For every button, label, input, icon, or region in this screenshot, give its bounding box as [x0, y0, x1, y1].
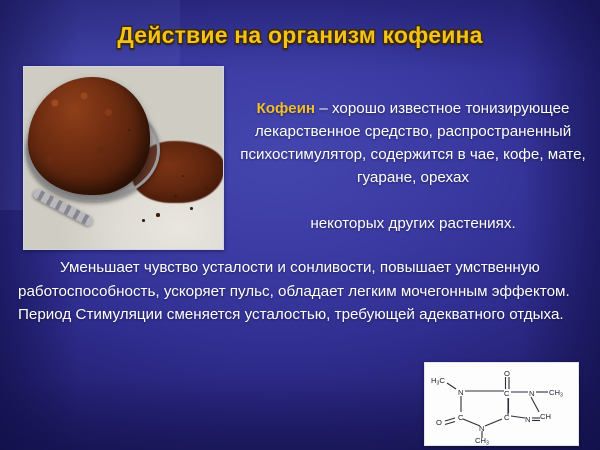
coffee-speck: [182, 175, 184, 177]
ground-coffee-mound: [28, 77, 150, 195]
coffee-speck: [142, 219, 145, 222]
atom-label-h3c: H3C: [431, 376, 445, 387]
paragraph-intro: Кофеин – хорошо известное тонизирующее л…: [233, 97, 593, 235]
atom-label-o-left: O: [436, 418, 442, 427]
coffee-speck: [156, 213, 160, 217]
coffee-speck: [174, 195, 177, 198]
atom-label-n-bottom: N: [479, 424, 484, 433]
atom-label-n-topleft: N: [458, 388, 463, 397]
atom-label-n-imidazole: N: [525, 415, 530, 424]
molecule-atom-labels: H3C N C O N CH3 O C C N CH3 N CH: [431, 369, 563, 445]
molecule-bonds: [445, 377, 548, 438]
caffeine-structure-svg: H3C N C O N CH3 O C C N CH3 N CH: [425, 363, 578, 445]
highlight-caffeine: Кофеин: [257, 100, 316, 117]
paragraph-intro-tail: некоторых других растениях.: [233, 212, 593, 235]
atom-label-n-right: N: [529, 389, 534, 398]
atom-label-ch3-right: CH3: [549, 388, 563, 399]
coffee-speck: [190, 207, 193, 210]
atom-label-o-top: O: [504, 369, 510, 378]
slide-title: Действие на организм кофеина: [0, 22, 600, 49]
paragraph-effects: Уменьшает чувство усталости и сонливости…: [18, 256, 590, 327]
paragraph-effects-text: Уменьшает чувство усталости и сонливости…: [18, 259, 570, 323]
atom-label-c-botmid: C: [504, 413, 510, 422]
atom-label-c-left: C: [458, 413, 464, 422]
caffeine-structure-image: H3C N C O N CH3 O C C N CH3 N CH: [424, 362, 579, 446]
slide-canvas: Действие на организм кофеина Кофеин – хо…: [0, 0, 600, 450]
atom-label-c-topmid: C: [504, 389, 510, 398]
coffee-speck: [205, 187, 207, 189]
coffee-speck: [128, 129, 130, 131]
atom-label-ch3-bottom: CH3: [475, 436, 489, 445]
coffee-photo: [23, 66, 224, 250]
atom-label-ch-imidazole: CH: [540, 412, 551, 421]
